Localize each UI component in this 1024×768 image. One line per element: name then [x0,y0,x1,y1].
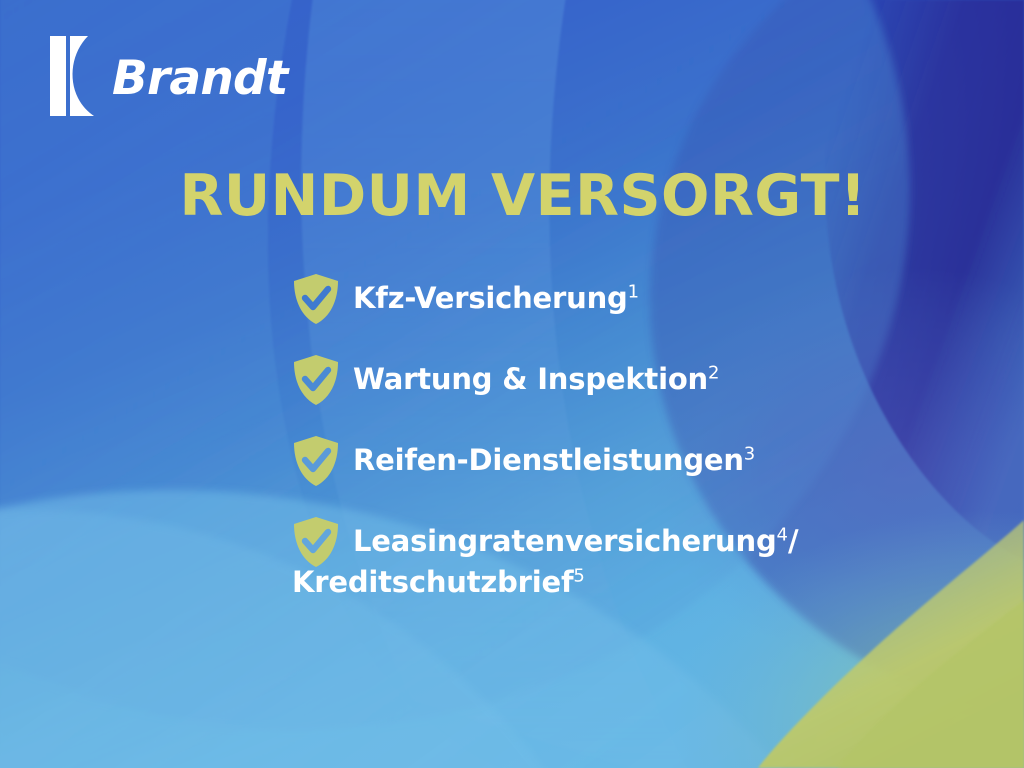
feature-footnote: 1 [628,281,639,302]
shield-check-icon [292,435,340,487]
list-item: Wartung & Inspektion2 [292,353,992,406]
shield-check-icon [292,354,340,406]
feature-footnote: 4 [777,524,788,545]
feature-label-text: Wartung & Inspektion [353,362,708,396]
feature-label-text-2: Kreditschutzbrief [292,565,573,599]
brand-wordmark: Brandt [112,55,288,102]
shield-check-icon [292,273,340,325]
feature-footnote: 3 [744,443,755,464]
feature-list: Kfz-Versicherung1 Wartung & Inspektion2 [292,272,992,603]
brandt-bracket-mark-icon [48,36,104,121]
list-item: Kfz-Versicherung1 [292,272,992,325]
list-item: Leasingratenversicherung4/ Kreditschutzb… [292,515,992,603]
shield-check-icon [292,516,340,568]
list-item: Reifen-Dienstleistungen3 [292,434,992,487]
page-title: RUNDUM VERSORGT! [0,168,1024,225]
feature-label-text: Reifen-Dienstleistungen [353,443,744,477]
feature-label-text: Leasingratenversicherung [353,524,777,558]
feature-separator: / [788,524,798,558]
brand-logo[interactable]: Brandt [48,36,288,121]
feature-label: Wartung & Inspektion2 [353,353,719,400]
poster-canvas: Brandt RUNDUM VERSORGT! Kfz-Versicherung… [0,0,1024,768]
feature-footnote: 2 [708,362,719,383]
feature-label: Kfz-Versicherung1 [353,272,639,319]
feature-footnote-2: 5 [573,566,584,587]
feature-label-line2: Kreditschutzbrief5 [292,562,798,603]
feature-label-text: Kfz-Versicherung [353,281,628,315]
feature-label: Leasingratenversicherung4/ Kreditschutzb… [353,515,798,603]
feature-label: Reifen-Dienstleistungen3 [353,434,755,481]
